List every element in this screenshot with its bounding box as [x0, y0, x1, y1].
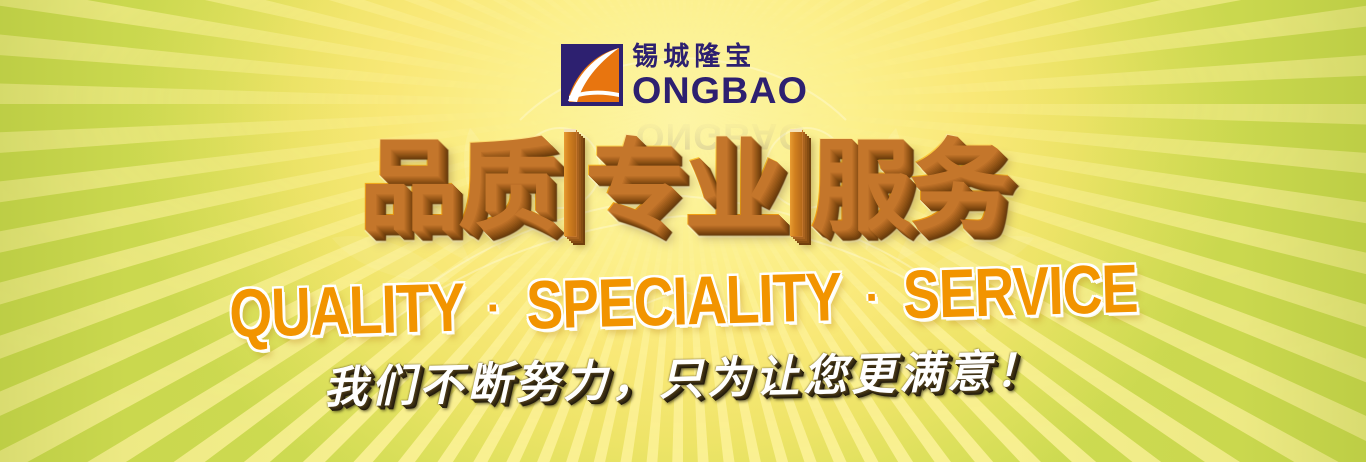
headline-word-quality: 品质: [358, 132, 556, 240]
logo-sail-icon: [561, 44, 623, 106]
headline-separator-1: [564, 129, 576, 236]
promo-banner: ONGBAO 锡城隆宝 ONGBAO 品质 专业 服务: [0, 0, 1366, 462]
logo-english-name: ONGBAO: [632, 74, 808, 110]
subline-separator-2: ·: [848, 266, 897, 327]
headline-word-service: 服务: [810, 132, 1008, 240]
subline-word-quality: QUALITY: [228, 273, 465, 350]
headline-word-speciality: 专业: [584, 132, 782, 240]
company-logo[interactable]: 锡城隆宝 ONGBAO: [0, 44, 1366, 110]
headline-separator-2: [790, 129, 802, 236]
headline-slogan: 品质 专业 服务: [0, 132, 1366, 240]
subline-word-service: SERVICE: [902, 254, 1138, 331]
subline-separator-1: ·: [470, 277, 519, 338]
subline-word-speciality: SPECIALITY: [525, 262, 842, 342]
